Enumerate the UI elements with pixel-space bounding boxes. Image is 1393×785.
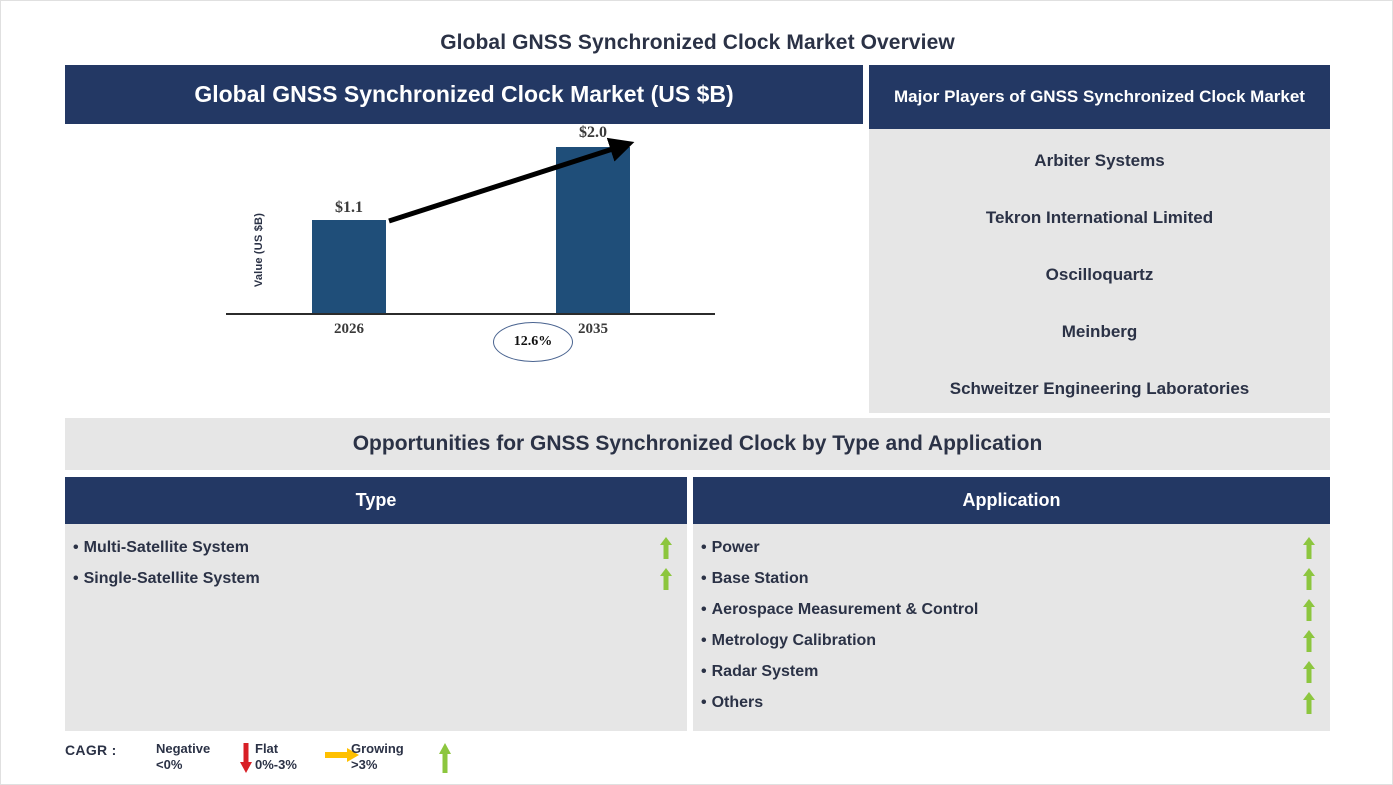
up-arrow-icon [1302,537,1316,559]
bullet-icon: • [701,570,707,587]
type-item-label: •Single-Satellite System [73,570,260,588]
application-item-text: Metrology Calibration [712,632,876,649]
up-arrow-icon [1302,692,1316,714]
bullet-icon: • [701,539,707,556]
cagr-legend-negative: Negative <0% [156,741,210,774]
opportunities-type-panel: Type •Multi-Satellite System •Single-Sat… [65,477,687,731]
up-arrow-icon [659,537,673,559]
type-panel-header: Type [65,477,687,524]
application-item-label: •Others [701,694,763,712]
bullet-icon: • [701,601,707,618]
list-item: •Aerospace Measurement & Control [701,594,1316,625]
type-item-text: Multi-Satellite System [84,539,249,556]
application-item-text: Base Station [712,570,809,587]
list-item: •Multi-Satellite System [73,532,673,563]
cagr-growing-range: >3% [351,757,404,773]
cagr-growth-arrow-icon [226,124,715,324]
application-item-label: •Base Station [701,570,809,588]
application-item-text: Others [712,694,764,711]
list-item: •Base Station [701,563,1316,594]
list-item: Meinberg [877,318,1322,346]
infographic-page: Global GNSS Synchronized Clock Market Ov… [0,0,1393,785]
application-item-label: •Aerospace Measurement & Control [701,601,978,619]
up-arrow-icon [1302,661,1316,683]
opportunities-application-panel: Application •Power •Base Station •Aerosp… [693,477,1330,731]
chart-panel-header: Global GNSS Synchronized Clock Market (U… [65,65,863,124]
cagr-flat-range: 0%-3% [255,757,297,773]
cagr-legend-flat: Flat 0%-3% [255,741,297,774]
application-items-list: •Power •Base Station •Aerospace Measurem… [693,524,1330,718]
list-item: Tekron International Limited [877,204,1322,232]
cagr-legend-growing: Growing >3% [351,741,404,774]
application-item-label: •Power [701,539,760,557]
application-item-label: •Metrology Calibration [701,632,876,650]
up-arrow-icon [438,743,452,773]
list-item: •Power [701,532,1316,563]
cagr-flat-label: Flat [255,741,297,757]
cagr-legend-title: CAGR : [65,742,117,758]
bullet-icon: • [73,539,79,556]
application-item-text: Aerospace Measurement & Control [712,601,979,618]
bullet-icon: • [701,632,707,649]
bullet-icon: • [73,570,79,587]
down-arrow-icon [239,743,253,773]
up-arrow-icon [659,568,673,590]
type-item-text: Single-Satellite System [84,570,260,587]
bullet-icon: • [701,663,707,680]
cagr-negative-range: <0% [156,757,210,773]
application-item-label: •Radar System [701,663,818,681]
list-item: •Single-Satellite System [73,563,673,594]
application-panel-header: Application [693,477,1330,524]
cagr-callout-bubble: 12.6% [493,322,573,362]
type-items-list: •Multi-Satellite System •Single-Satellit… [65,524,687,594]
cagr-legend: CAGR : Negative <0% Flat 0%-3% Growing >… [65,739,525,781]
list-item: Arbiter Systems [877,147,1322,175]
application-item-text: Radar System [712,663,819,680]
list-item: Schweitzer Engineering Laboratories [877,375,1322,403]
cagr-negative-label: Negative [156,741,210,757]
market-chart-panel: Global GNSS Synchronized Clock Market (U… [65,65,863,413]
major-players-panel: Major Players of GNSS Synchronized Clock… [869,65,1330,413]
list-item: •Others [701,687,1316,718]
list-item: •Radar System [701,656,1316,687]
chart-body: Value (US $B) $1.1 $2.0 2026 2035 [65,124,863,413]
bullet-icon: • [701,694,707,711]
players-list: Arbiter Systems Tekron International Lim… [869,129,1330,413]
up-arrow-icon [1302,630,1316,652]
page-title: Global GNSS Synchronized Clock Market Ov… [1,31,1393,55]
application-item-text: Power [712,539,760,556]
list-item: •Metrology Calibration [701,625,1316,656]
players-panel-header: Major Players of GNSS Synchronized Clock… [869,65,1330,129]
up-arrow-icon [1302,599,1316,621]
opportunities-banner: Opportunities for GNSS Synchronized Cloc… [65,418,1330,470]
up-arrow-icon [1302,568,1316,590]
cagr-growing-label: Growing [351,741,404,757]
list-item: Oscilloquartz [877,261,1322,289]
type-item-label: •Multi-Satellite System [73,539,249,557]
bar-chart-plot: $1.1 $2.0 2026 2035 12.6% [65,124,863,413]
